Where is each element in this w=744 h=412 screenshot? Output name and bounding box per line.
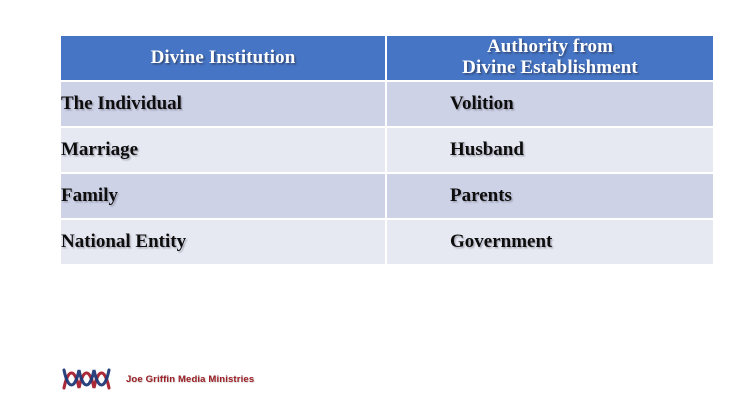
- footer-brand-text: Joe Griffin Media Ministries: [126, 374, 254, 385]
- slide-canvas: Divine Institution Authority from Divine…: [0, 0, 744, 412]
- table-header: Divine Institution Authority from Divine…: [61, 36, 713, 80]
- table-row: National Entity Government: [61, 220, 713, 264]
- table-header-row: Divine Institution Authority from Divine…: [61, 36, 713, 80]
- footer-branding: Joe Griffin Media Ministries: [62, 366, 254, 392]
- cell-institution-2: Family: [61, 174, 385, 218]
- cell-institution-3: National Entity: [61, 220, 385, 264]
- column-header-divine-institution: Divine Institution: [61, 36, 385, 80]
- table-row: The Individual Volition: [61, 82, 713, 126]
- column-header-divine-institution-line1: Divine Institution: [61, 48, 385, 69]
- column-header-authority-line2: Divine Establishment: [387, 58, 713, 79]
- divine-institution-table-wrapper: Divine Institution Authority from Divine…: [59, 34, 713, 266]
- table-row: Family Parents: [61, 174, 713, 218]
- cell-authority-3: Government: [387, 220, 713, 264]
- double-helix-logo-icon: [62, 366, 118, 392]
- cell-institution-0: The Individual: [61, 82, 385, 126]
- cell-authority-0: Volition: [387, 82, 713, 126]
- table-body: The Individual Volition Marriage Husband…: [61, 82, 713, 264]
- cell-authority-1: Husband: [387, 128, 713, 172]
- table-row: Marriage Husband: [61, 128, 713, 172]
- column-header-authority-line1: Authority from: [387, 37, 713, 58]
- column-header-authority: Authority from Divine Establishment: [387, 36, 713, 80]
- cell-authority-2: Parents: [387, 174, 713, 218]
- divine-institution-table: Divine Institution Authority from Divine…: [59, 34, 715, 266]
- cell-institution-1: Marriage: [61, 128, 385, 172]
